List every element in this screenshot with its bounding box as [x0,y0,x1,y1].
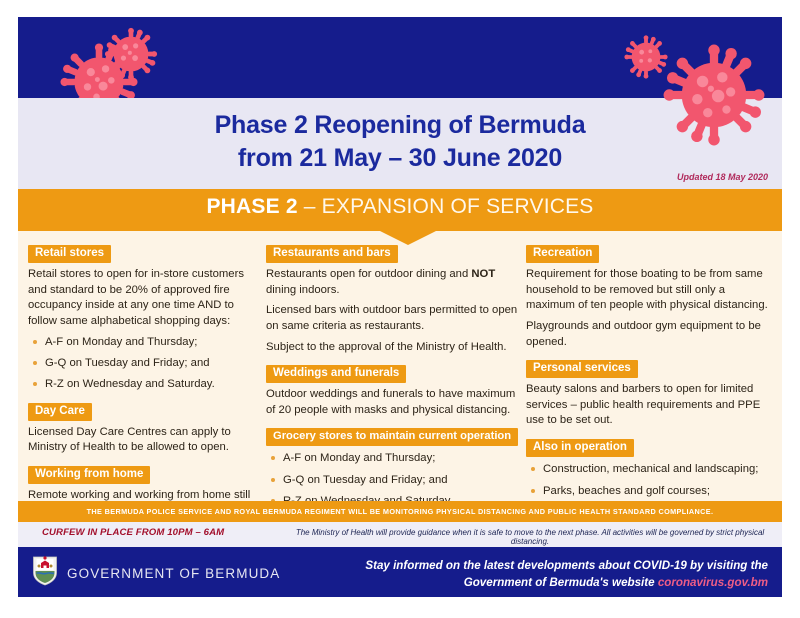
list-item: G-Q on Tuesday and Friday; and [266,473,518,488]
section-paragraph: Licensed Day Care Centres can apply to M… [28,425,256,456]
section-heading: Restaurants and bars [266,245,398,263]
section-retail-stores: Retail stores Retail stores to open for … [28,243,256,393]
section-paragraph: Licensed bars with outdoor bars permitte… [266,303,518,334]
list-item: R-Z on Wednesday and Saturday. [28,377,256,392]
list-item: A-F on Monday and Thursday; [266,451,518,466]
coronavirus-icon [662,43,766,147]
content-columns: Retail stores Retail stores to open for … [18,243,782,501]
stay-informed-line-1: Stay informed on the latest developments… [365,558,768,575]
coronavirus-icon [102,25,160,83]
police-notice-bar: THE BERMUDA POLICE SERVICE AND ROYAL BER… [18,501,782,522]
list-item: Construction, mechanical and landscaping… [526,462,774,477]
section-paragraph: Playgrounds and outdoor gym equipment to… [526,319,774,350]
government-footer: GOVERNMENT OF BERMUDA Stay informed on t… [18,547,782,597]
section-heading: Retail stores [28,245,111,263]
section-recreation: Recreation Requirement for those boating… [526,243,774,350]
section-paragraph: Restaurants open for outdoor dining and … [266,267,518,298]
guidance-text: The Ministry of Health will provide guid… [286,528,774,546]
section-heading: Weddings and funerals [266,365,406,383]
updated-date: Updated 18 May 2020 [677,172,768,182]
phase-banner-rest: – EXPANSION OF SERVICES [298,195,594,218]
section-heading: Working from home [28,466,150,484]
bermuda-coat-of-arms-icon [32,556,58,591]
section-paragraph: Beauty salons and barbers to open for li… [526,382,774,429]
stay-informed-block: Stay informed on the latest developments… [365,558,768,592]
section-restaurants-and-bars: Restaurants and bars Restaurants open fo… [266,243,518,355]
phase-banner: PHASE 2 – EXPANSION OF SERVICES [18,189,782,231]
phase-heading-line-2: from 21 May – 30 June 2020 [18,144,782,173]
section-day-care: Day Care Licensed Day Care Centres can a… [28,401,256,456]
section-paragraph: Requirement for those boating to be from… [526,267,774,314]
covid19-phase2-poster: Phase 2 Reopening of Bermuda from 21 May… [18,17,782,597]
column-middle: Restaurants and bars Restaurants open fo… [266,243,518,509]
column-left: Retail stores Retail stores to open for … [28,243,256,519]
section-paragraph: Subject to the approval of the Ministry … [266,340,518,356]
section-heading: Day Care [28,403,92,421]
section-grocery-stores: Grocery stores to maintain current opera… [266,426,518,509]
list-item: G-Q on Tuesday and Friday; and [28,356,256,371]
section-heading: Grocery stores to maintain current opera… [266,428,518,446]
list-item: Parks, beaches and golf courses; [526,484,774,499]
curfew-bar: CURFEW IN PLACE FROM 10PM – 6AM The Mini… [18,522,782,547]
phase-banner-strong: PHASE 2 [206,195,297,218]
stay-informed-line-2: Government of Bermuda's website coronavi… [365,575,768,592]
coronavirus-website-link[interactable]: coronavirus.gov.bm [658,576,768,589]
section-paragraph: Retail stores to open for in-store custo… [28,267,256,329]
government-label: GOVERNMENT OF BERMUDA [67,566,280,581]
section-heading: Personal services [526,360,638,378]
government-branding: GOVERNMENT OF BERMUDA [32,556,280,591]
list-item: A-F on Monday and Thursday; [28,335,256,350]
section-paragraph: Outdoor weddings and funerals to have ma… [266,387,518,418]
stay-informed-line-2-text: Government of Bermuda's website [464,576,655,589]
section-weddings-and-funerals: Weddings and funerals Outdoor weddings a… [266,363,518,418]
section-heading: Also in operation [526,439,634,457]
section-heading: Recreation [526,245,599,263]
police-notice-text: THE BERMUDA POLICE SERVICE AND ROYAL BER… [18,501,782,522]
section-personal-services: Personal services Beauty salons and barb… [526,358,774,429]
phase-banner-text: PHASE 2 – EXPANSION OF SERVICES [18,195,782,219]
section-bullet-list: A-F on Monday and Thursday; G-Q on Tuesd… [28,335,256,393]
curfew-text: CURFEW IN PLACE FROM 10PM – 6AM [42,527,224,538]
